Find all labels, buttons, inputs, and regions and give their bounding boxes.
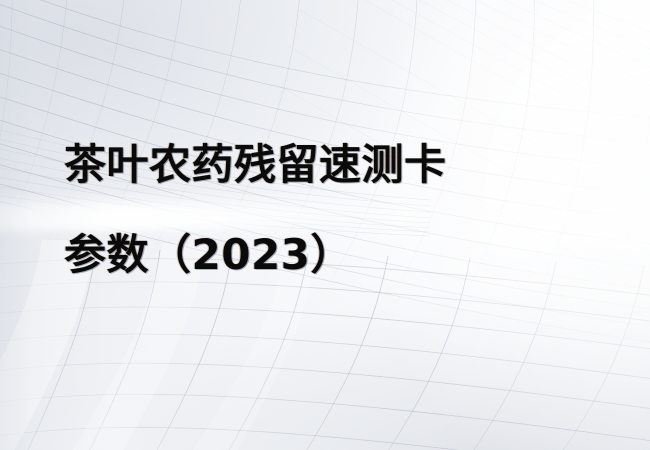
title-block: 茶叶农药残留速测卡 参数（2023） xyxy=(64,142,584,278)
title-line-primary: 茶叶农药残留速测卡 xyxy=(64,142,584,188)
title-banner: 茶叶农药残留速测卡 参数（2023） xyxy=(0,0,650,450)
title-line-secondary: 参数（2023） xyxy=(64,232,584,278)
